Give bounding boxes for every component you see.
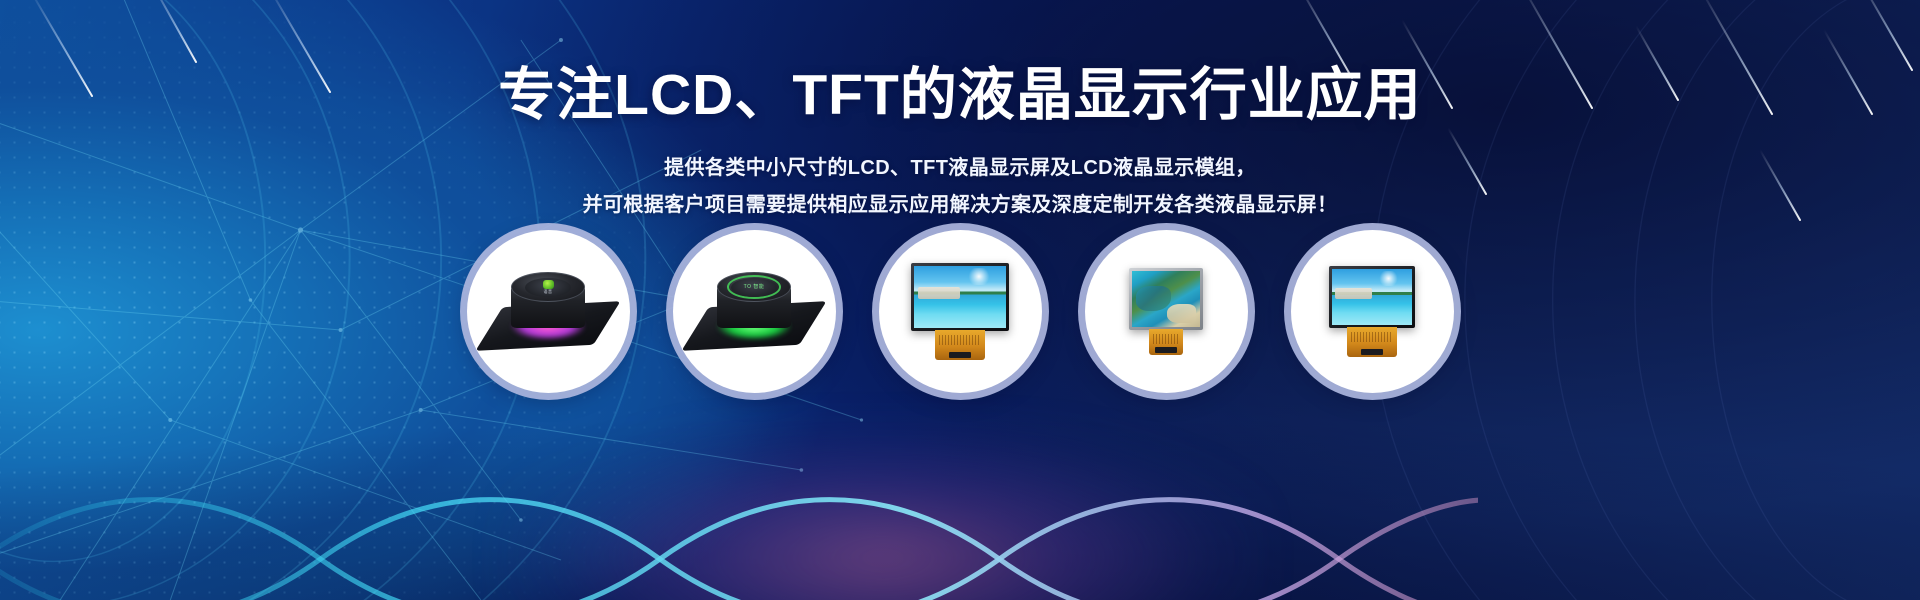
hero-banner: 专注LCD、TFT的液晶显示行业应用 提供各类中小尺寸的LCD、TFT液晶显示屏… (0, 0, 1920, 600)
product-circle-list: 语音 TO 智能 (0, 230, 1920, 393)
product-image-speaker-purple: 语音 (467, 230, 630, 393)
subtitle-line-1: 提供各类中小尺寸的LCD、TFT液晶显示屏及LCD液晶显示模组， (0, 150, 1920, 187)
subtitle-line-2: 并可根据客户项目需要提供相应显示应用解决方案及深度定制开发各类液晶显示屏！ (0, 187, 1920, 224)
lcd-driver-chip (949, 352, 971, 358)
lcd-driver-chip (1361, 349, 1383, 355)
lcd-screen-beach (914, 266, 1006, 328)
lcd-screen-beach (1332, 269, 1412, 325)
lcd-fpc-ribbon (1149, 329, 1183, 355)
product-circle-tft-display-beach[interactable] (879, 230, 1042, 393)
lcd-illustration (1329, 266, 1415, 357)
lcd-bezel-silver (1129, 268, 1203, 330)
lcd-bezel (911, 263, 1009, 331)
product-circle-smart-speaker-purple[interactable]: 语音 (467, 230, 630, 393)
subtitle-block: 提供各类中小尺寸的LCD、TFT液晶显示屏及LCD液晶显示模组， 并可根据客户项… (0, 150, 1920, 224)
page-title: 专注LCD、TFT的液晶显示行业应用 (0, 64, 1920, 128)
speaker-screen-face: TO 智能 (731, 278, 777, 297)
speaker-logo-badge-icon (543, 280, 554, 289)
product-circle-smart-speaker-green[interactable]: TO 智能 (673, 230, 836, 393)
lcd-fpc-ribbon (935, 330, 985, 360)
product-circle-lcd-module-coast[interactable] (1085, 230, 1248, 393)
lcd-illustration (911, 263, 1009, 360)
lcd-fpc-ribbon (1347, 327, 1397, 357)
speaker-label-text: TO 智能 (744, 285, 765, 290)
speaker-illustration: TO 智能 (691, 262, 817, 362)
banner-text-block: 专注LCD、TFT的液晶显示行业应用 提供各类中小尺寸的LCD、TFT液晶显示屏… (0, 64, 1920, 224)
lcd-illustration (1129, 268, 1203, 355)
speaker-label-text: 语音 (544, 290, 553, 294)
speaker-illustration: 语音 (485, 262, 611, 362)
lcd-driver-chip (1155, 347, 1177, 353)
speaker-screen-face: 语音 (525, 278, 571, 297)
product-image-tft-beach (879, 230, 1042, 393)
background-dna-helix (0, 360, 1478, 600)
product-circle-tft-module-beach[interactable] (1291, 230, 1454, 393)
lcd-bezel (1329, 266, 1415, 328)
product-image-tft-module-beach (1291, 230, 1454, 393)
lcd-screen-coast (1132, 271, 1200, 327)
product-image-speaker-green: TO 智能 (673, 230, 836, 393)
product-image-lcd-coast (1085, 230, 1248, 393)
